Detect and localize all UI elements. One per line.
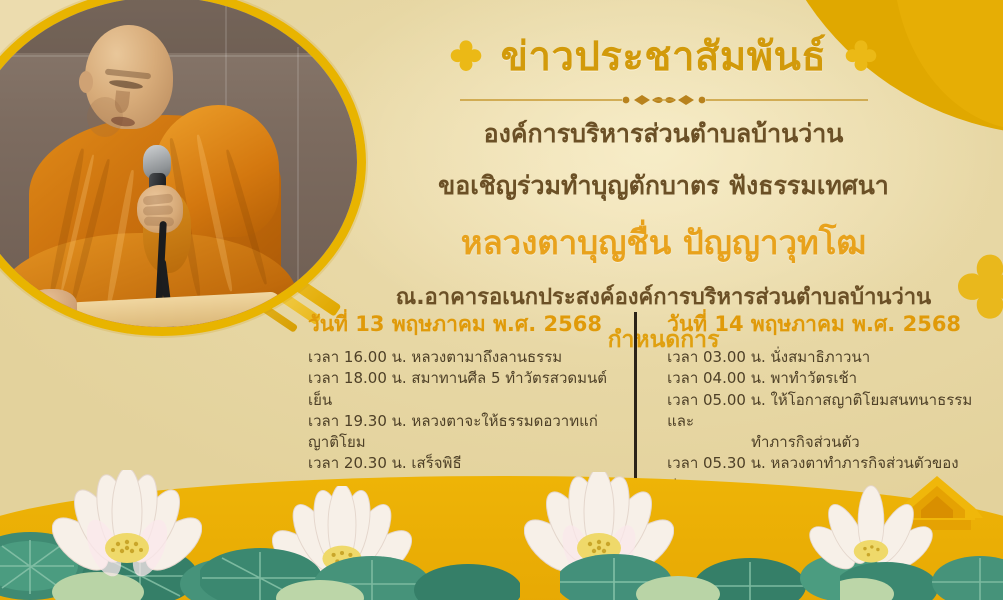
lotus-leaf-icon [200, 490, 520, 600]
ornamental-divider-icon [454, 92, 874, 108]
schedule-item: เวลา 04.00 น. พาทำวัตรเช้า [667, 368, 981, 389]
lotus-flower-icon [52, 470, 202, 586]
invitation-line: ขอเชิญร่วมทำบุญตักบาตร ฟังธรรมเทศนา [340, 166, 987, 206]
schedule-item: เวลา 03.00 น. นั่งสมาธิภาวนา [667, 347, 981, 368]
quatrefoil-ornament-icon [844, 39, 878, 73]
organization-name: องค์การบริหารส่วนตำบลบ้านว่าน [340, 114, 987, 154]
monk-name: หลวงตาบุญชื่น ปัญญาวุทโฒ [340, 216, 987, 269]
bottom-decoration-band [0, 450, 1003, 600]
page-title: ข่าวประชาสัมพันธ์ [501, 24, 827, 88]
poster-root: ข่าวประชาสัมพันธ์ องค์การบริหารส่วนตำบลบ… [0, 0, 1003, 600]
schedule-item: เวลา 05.00 น. ให้โอกาสญาติโยมสนทนาธรรมแล… [667, 390, 981, 433]
schedule-item: เวลา 16.00 น. หลวงตามาถึงลานธรรม [308, 347, 620, 368]
monk-photo [0, 0, 366, 336]
lotus-leaf-icon [840, 504, 1003, 600]
quatrefoil-ornament-icon [449, 39, 483, 73]
schedule-day1-heading: วันที่ 13 พฤษภาคม พ.ศ. 2568 [308, 308, 620, 341]
schedule-item: เวลา 18.00 น. สมาทานศีล 5 ทำวัตรสวดมนต์เ… [308, 368, 620, 411]
schedule-day2-heading: วันที่ 14 พฤษภาคม พ.ศ. 2568 [667, 308, 981, 341]
schedule-item: เวลา 19.30 น. หลวงตาจะให้ธรรมดอวาทแก่ญาต… [308, 411, 620, 454]
title-row: ข่าวประชาสัมพันธ์ [340, 24, 987, 88]
